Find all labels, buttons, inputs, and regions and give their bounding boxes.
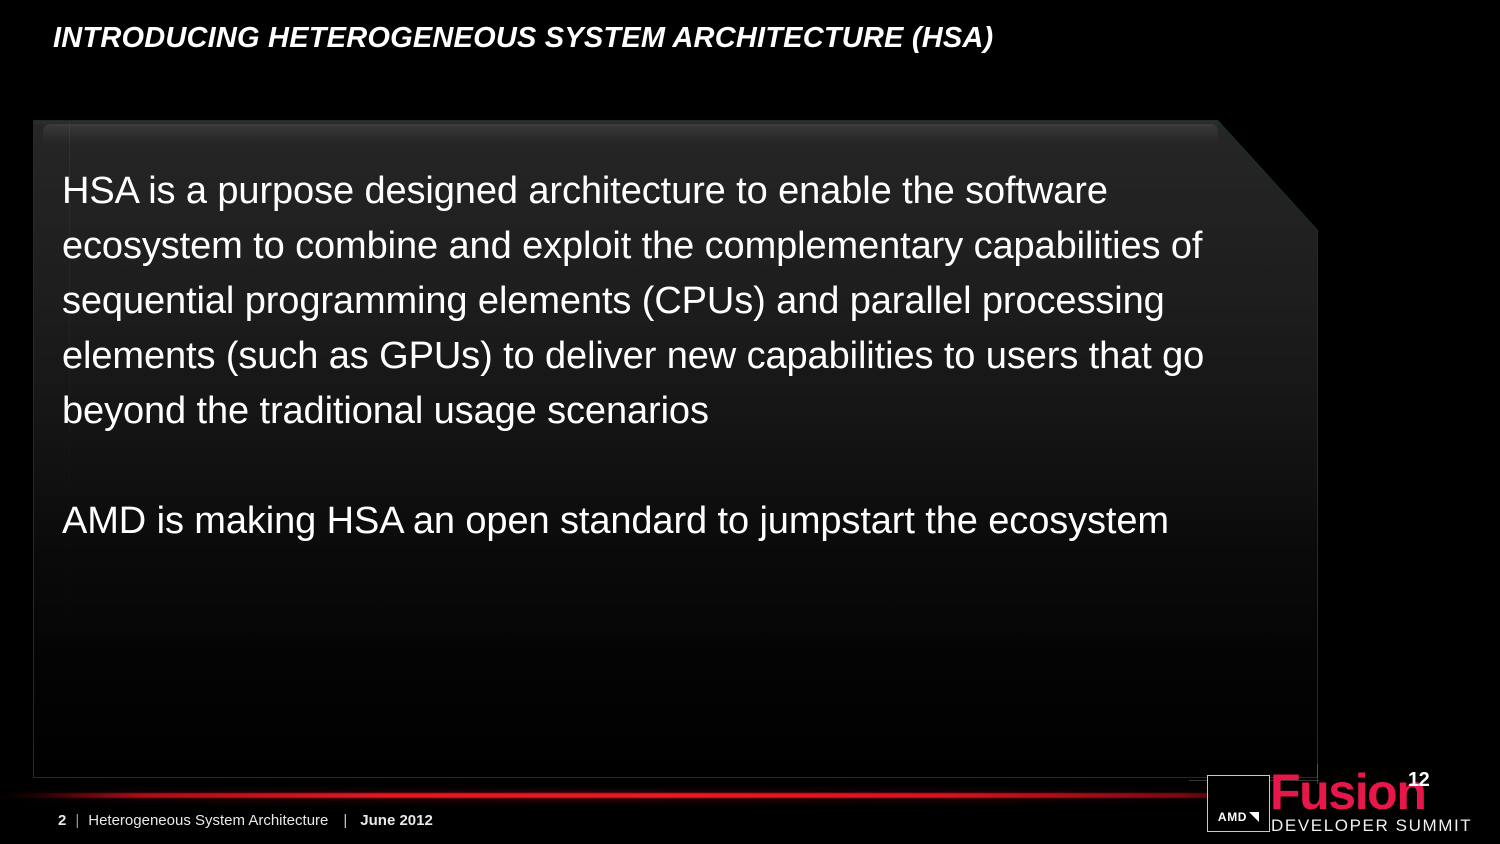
footer-separator-2: | <box>343 812 347 829</box>
amd-wordmark-text: AMD <box>1218 810 1247 824</box>
body-paragraph-2: AMD is making HSA an open standard to ju… <box>62 494 1222 549</box>
developer-summit-label: DEVELOPER SUMMIT <box>1271 816 1472 836</box>
amd-logo-divider <box>1209 790 1268 791</box>
footer-deck-name: Heterogeneous System Architecture <box>88 812 328 829</box>
content-panel: HSA is a purpose designed architecture t… <box>33 120 1318 778</box>
amd-logo-mark: AMD <box>1207 775 1270 832</box>
footer-separator-1: | <box>75 812 79 829</box>
fusion-wordmark: Fusion <box>1270 767 1425 817</box>
body-paragraph-1: HSA is a purpose designed architecture t… <box>62 164 1222 439</box>
panel-body: HSA is a purpose designed architecture t… <box>62 164 1222 549</box>
footer-date: June 2012 <box>360 812 433 829</box>
page-title: INTRODUCING HETEROGENEOUS SYSTEM ARCHITE… <box>53 22 993 55</box>
fusion-year-superscript: 12 <box>1408 769 1429 792</box>
footer: 2 | Heterogeneous System Architecture | … <box>58 812 433 829</box>
amd-arrow-icon <box>1249 812 1259 822</box>
slide-root: INTRODUCING HETEROGENEOUS SYSTEM ARCHITE… <box>0 0 1500 844</box>
footer-divider <box>0 793 1280 798</box>
amd-wordmark: AMD <box>1218 810 1259 824</box>
footer-page-number: 2 <box>58 812 66 829</box>
